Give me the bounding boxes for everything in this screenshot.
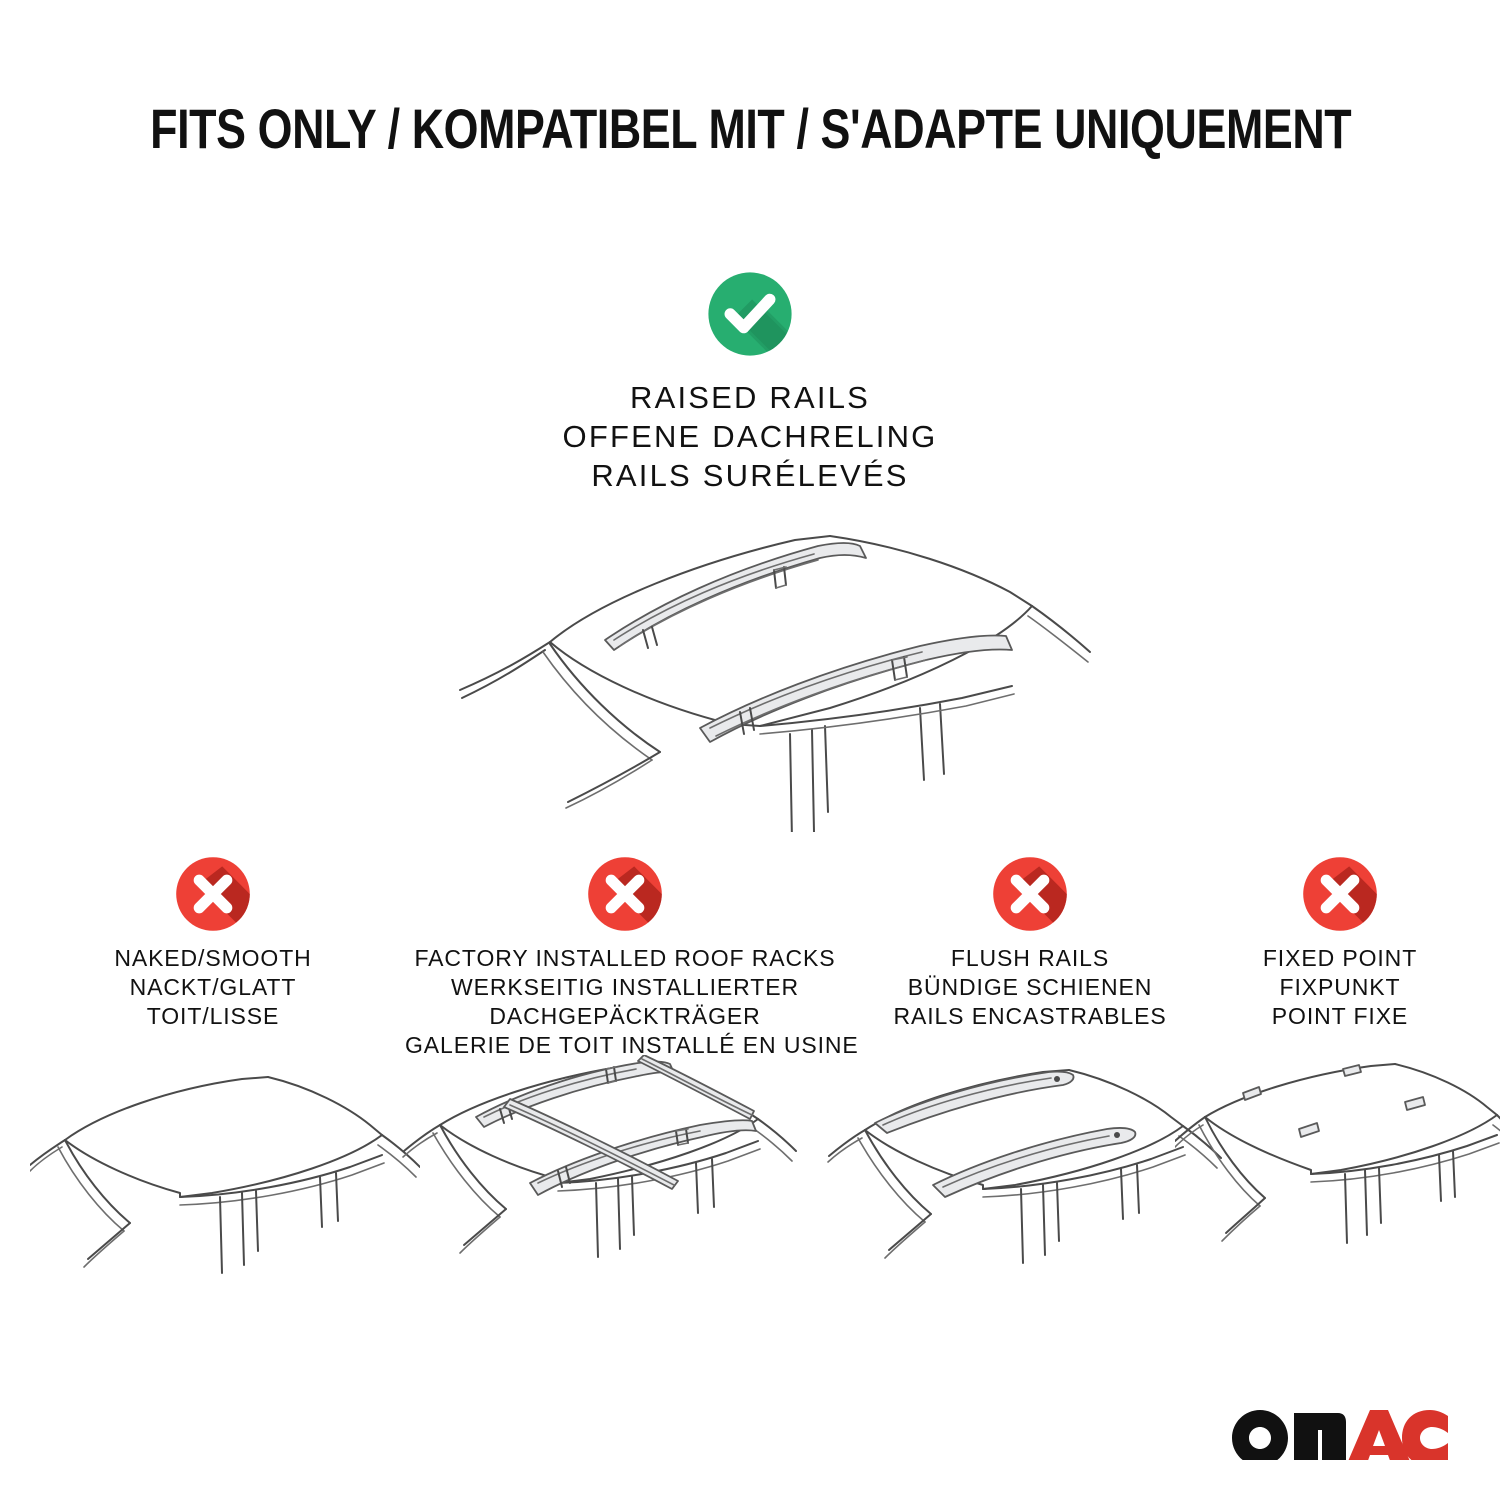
cross-circle-icon xyxy=(1294,848,1386,940)
car-roof-naked-smooth-illustration xyxy=(30,1055,420,1295)
compatible-label-line-3: RAILS SURÉLEVÉS xyxy=(450,456,1050,495)
compatible-label: RAISED RAILS OFFENE DACHRELING RAILS SUR… xyxy=(450,378,1050,495)
label-line-2: BÜNDIGE SCHIENEN xyxy=(865,973,1195,1002)
car-roof-flush-rails-illustration xyxy=(825,1055,1225,1295)
label-line-1: FIXED POINT xyxy=(1200,944,1480,973)
incompatible-label-fixed-point: FIXED POINT FIXPUNKT POINT FIXE xyxy=(1200,944,1480,1031)
incompatible-label-naked-smooth: NAKED/SMOOTH NACKT/GLATT TOIT/LISSE xyxy=(53,944,373,1031)
page-title-text: FITS ONLY / KOMPATIBEL MIT / S'ADAPTE UN… xyxy=(150,96,1351,161)
omac-logo xyxy=(1232,1404,1448,1460)
car-roof-raised-rails-illustration xyxy=(400,512,1100,832)
compatible-label-line-1: RAISED RAILS xyxy=(450,378,1050,417)
label-line-1: NAKED/SMOOTH xyxy=(53,944,373,973)
label-line-3: TOIT/LISSE xyxy=(53,1002,373,1031)
compatible-label-line-2: OFFENE DACHRELING xyxy=(450,417,1050,456)
cross-circle-icon xyxy=(984,848,1076,940)
label-line-3: POINT FIXE xyxy=(1200,1002,1480,1031)
car-roof-fixed-point-illustration xyxy=(1175,1055,1500,1295)
incompatible-label-factory-roof-racks: FACTORY INSTALLED ROOF RACKS WERKSEITIG … xyxy=(405,944,845,1060)
check-circle-icon xyxy=(698,262,802,366)
label-line-1: FACTORY INSTALLED ROOF RACKS xyxy=(405,944,845,973)
label-line-2: WERKSEITIG INSTALLIERTER xyxy=(405,973,845,1002)
cross-circle-icon xyxy=(579,848,671,940)
label-line-3: DACHGEPÄCKTRÄGER xyxy=(405,1002,845,1031)
page-title: FITS ONLY / KOMPATIBEL MIT / S'ADAPTE UN… xyxy=(0,96,1500,161)
label-line-2: FIXPUNKT xyxy=(1200,973,1480,1002)
cross-circle-icon xyxy=(167,848,259,940)
label-line-2: NACKT/GLATT xyxy=(53,973,373,1002)
label-line-1: FLUSH RAILS xyxy=(865,944,1195,973)
incompatible-label-flush-rails: FLUSH RAILS BÜNDIGE SCHIENEN RAILS ENCAS… xyxy=(865,944,1195,1031)
label-line-3: RAILS ENCASTRABLES xyxy=(865,1002,1195,1031)
car-roof-factory-roof-racks-illustration xyxy=(400,1055,800,1295)
